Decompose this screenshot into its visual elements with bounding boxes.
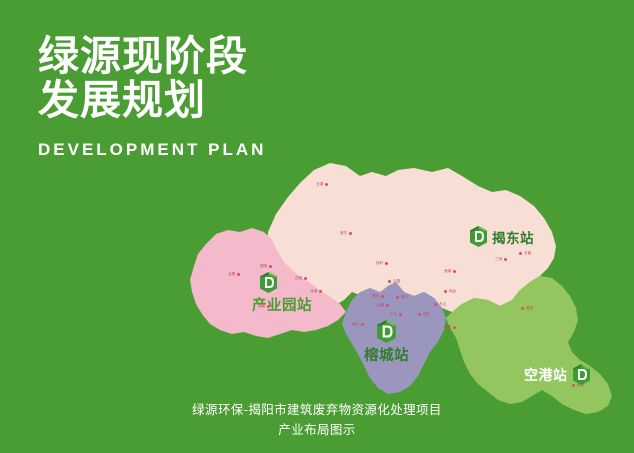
town-dot-icon: [521, 307, 524, 310]
town-marker: 登岗: [521, 307, 533, 311]
town-dot-icon: [519, 252, 522, 255]
town-dot-icon: [399, 313, 402, 316]
caption-line2: 产业布局图示: [0, 420, 634, 440]
town-marker: 榕东: [418, 313, 430, 317]
town-marker: 中山: [390, 313, 402, 317]
town-marker: 渔湖: [444, 270, 456, 274]
lvyuan-logo-icon: [377, 320, 396, 343]
lvyuan-logo-icon: [470, 226, 487, 247]
infographic-root: 玉湖 新亨 桂岭 锡场 白塔 龙尾 月城 云路 霖磐 磐东 曲溪 新兴 中山 榕…: [0, 0, 634, 453]
town-dot-icon: [418, 313, 421, 316]
town-dot-icon: [319, 290, 322, 293]
station-label: 产业园站: [252, 294, 312, 315]
town-dot-icon: [385, 262, 388, 265]
page-subtitle: DEVELOPMENT PLAN: [38, 140, 338, 160]
page-title-line2: 发展规划: [38, 78, 338, 122]
town-marker: 三洲: [495, 258, 507, 262]
town-dot-icon: [325, 183, 328, 186]
station-label: 空港站: [524, 365, 568, 385]
station-marker-rongcheng[interactable]: 榕城站: [364, 320, 409, 365]
town-dot-icon: [237, 273, 240, 276]
town-dot-icon: [444, 290, 447, 293]
station-label: 榕城站: [364, 344, 409, 365]
town-marker: 梅云: [352, 323, 364, 327]
lvyuan-logo-icon: [573, 364, 590, 385]
town-marker: 桂岭: [376, 262, 388, 266]
town-marker: 曲溪: [377, 304, 389, 308]
town-marker: 炮台: [444, 290, 456, 294]
caption-line1: 绿源环保-揭阳市建筑废弃物资源化处理项目: [0, 400, 634, 420]
town-dot-icon: [388, 280, 391, 283]
town-marker: 地都: [444, 326, 456, 330]
town-dot-icon: [269, 265, 272, 268]
town-marker: 玉湖: [316, 183, 328, 187]
headline-block: 绿源现阶段 发展规划 DEVELOPMENT PLAN: [38, 34, 338, 160]
town-dot-icon: [386, 304, 389, 307]
station-marker-konggang[interactable]: 空港站: [524, 364, 590, 385]
town-dot-icon: [453, 270, 456, 273]
town-marker: 新兴: [396, 296, 408, 300]
town-dot-icon: [504, 258, 507, 261]
town-dot-icon: [349, 232, 352, 235]
town-marker: 磐东: [372, 295, 384, 299]
station-label: 揭东站: [492, 227, 534, 247]
town-dot-icon: [434, 303, 437, 306]
town-marker: 龙尾: [228, 273, 240, 277]
town-marker: 锡场: [260, 265, 272, 269]
town-marker: 云路: [388, 280, 400, 284]
lvyuan-logo-icon: [260, 272, 277, 293]
town-dot-icon: [381, 295, 384, 298]
town-dot-icon: [396, 296, 399, 299]
station-marker-jiedong[interactable]: 揭东站: [470, 226, 534, 247]
town-marker: 玉窖: [519, 252, 531, 256]
town-dot-icon: [453, 326, 456, 329]
page-title-line1: 绿源现阶段: [38, 34, 338, 78]
station-marker-chanyeyuan[interactable]: 产业园站: [252, 272, 312, 315]
town-marker: 东山: [434, 303, 446, 307]
caption-block: 绿源环保-揭阳市建筑废弃物资源化处理项目 产业布局图示: [0, 400, 634, 440]
town-marker: 新亨: [340, 232, 352, 236]
